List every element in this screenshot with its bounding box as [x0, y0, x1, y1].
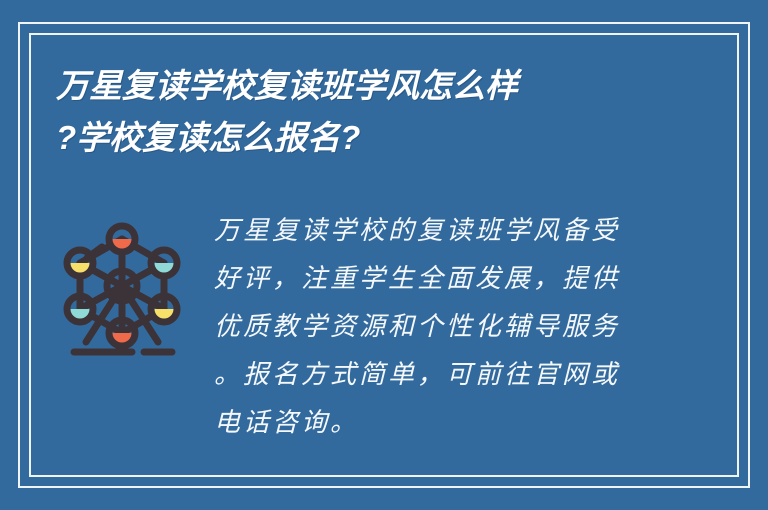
body-line-5: 电话咨询。: [214, 399, 712, 447]
body-line-2: 好评，注重学生全面发展，提供: [214, 255, 712, 303]
body-paragraph: 万星复读学校的复读班学风备受 好评，注重学生全面发展，提供 优质教学资源和个性化…: [196, 205, 712, 447]
body-line-1: 万星复读学校的复读班学风备受: [214, 207, 712, 255]
body-line-4: 。报名方式简单，可前往官网或: [214, 351, 712, 399]
page-title: 万星复读学校复读班学风怎么样 ?学校复读怎么报名?: [56, 60, 706, 164]
body-line-3: 优质教学资源和个性化辅导服务: [214, 303, 712, 351]
title-line-2: ?学校复读怎么报名?: [56, 112, 706, 164]
content-row: 万星复读学校的复读班学风备受 好评，注重学生全面发展，提供 优质教学资源和个性化…: [56, 205, 712, 447]
ferris-wheel-icon: [56, 205, 196, 359]
poster-canvas: 万星复读学校复读班学风怎么样 ?学校复读怎么报名?: [0, 0, 768, 510]
title-line-1: 万星复读学校复读班学风怎么样: [56, 60, 706, 112]
